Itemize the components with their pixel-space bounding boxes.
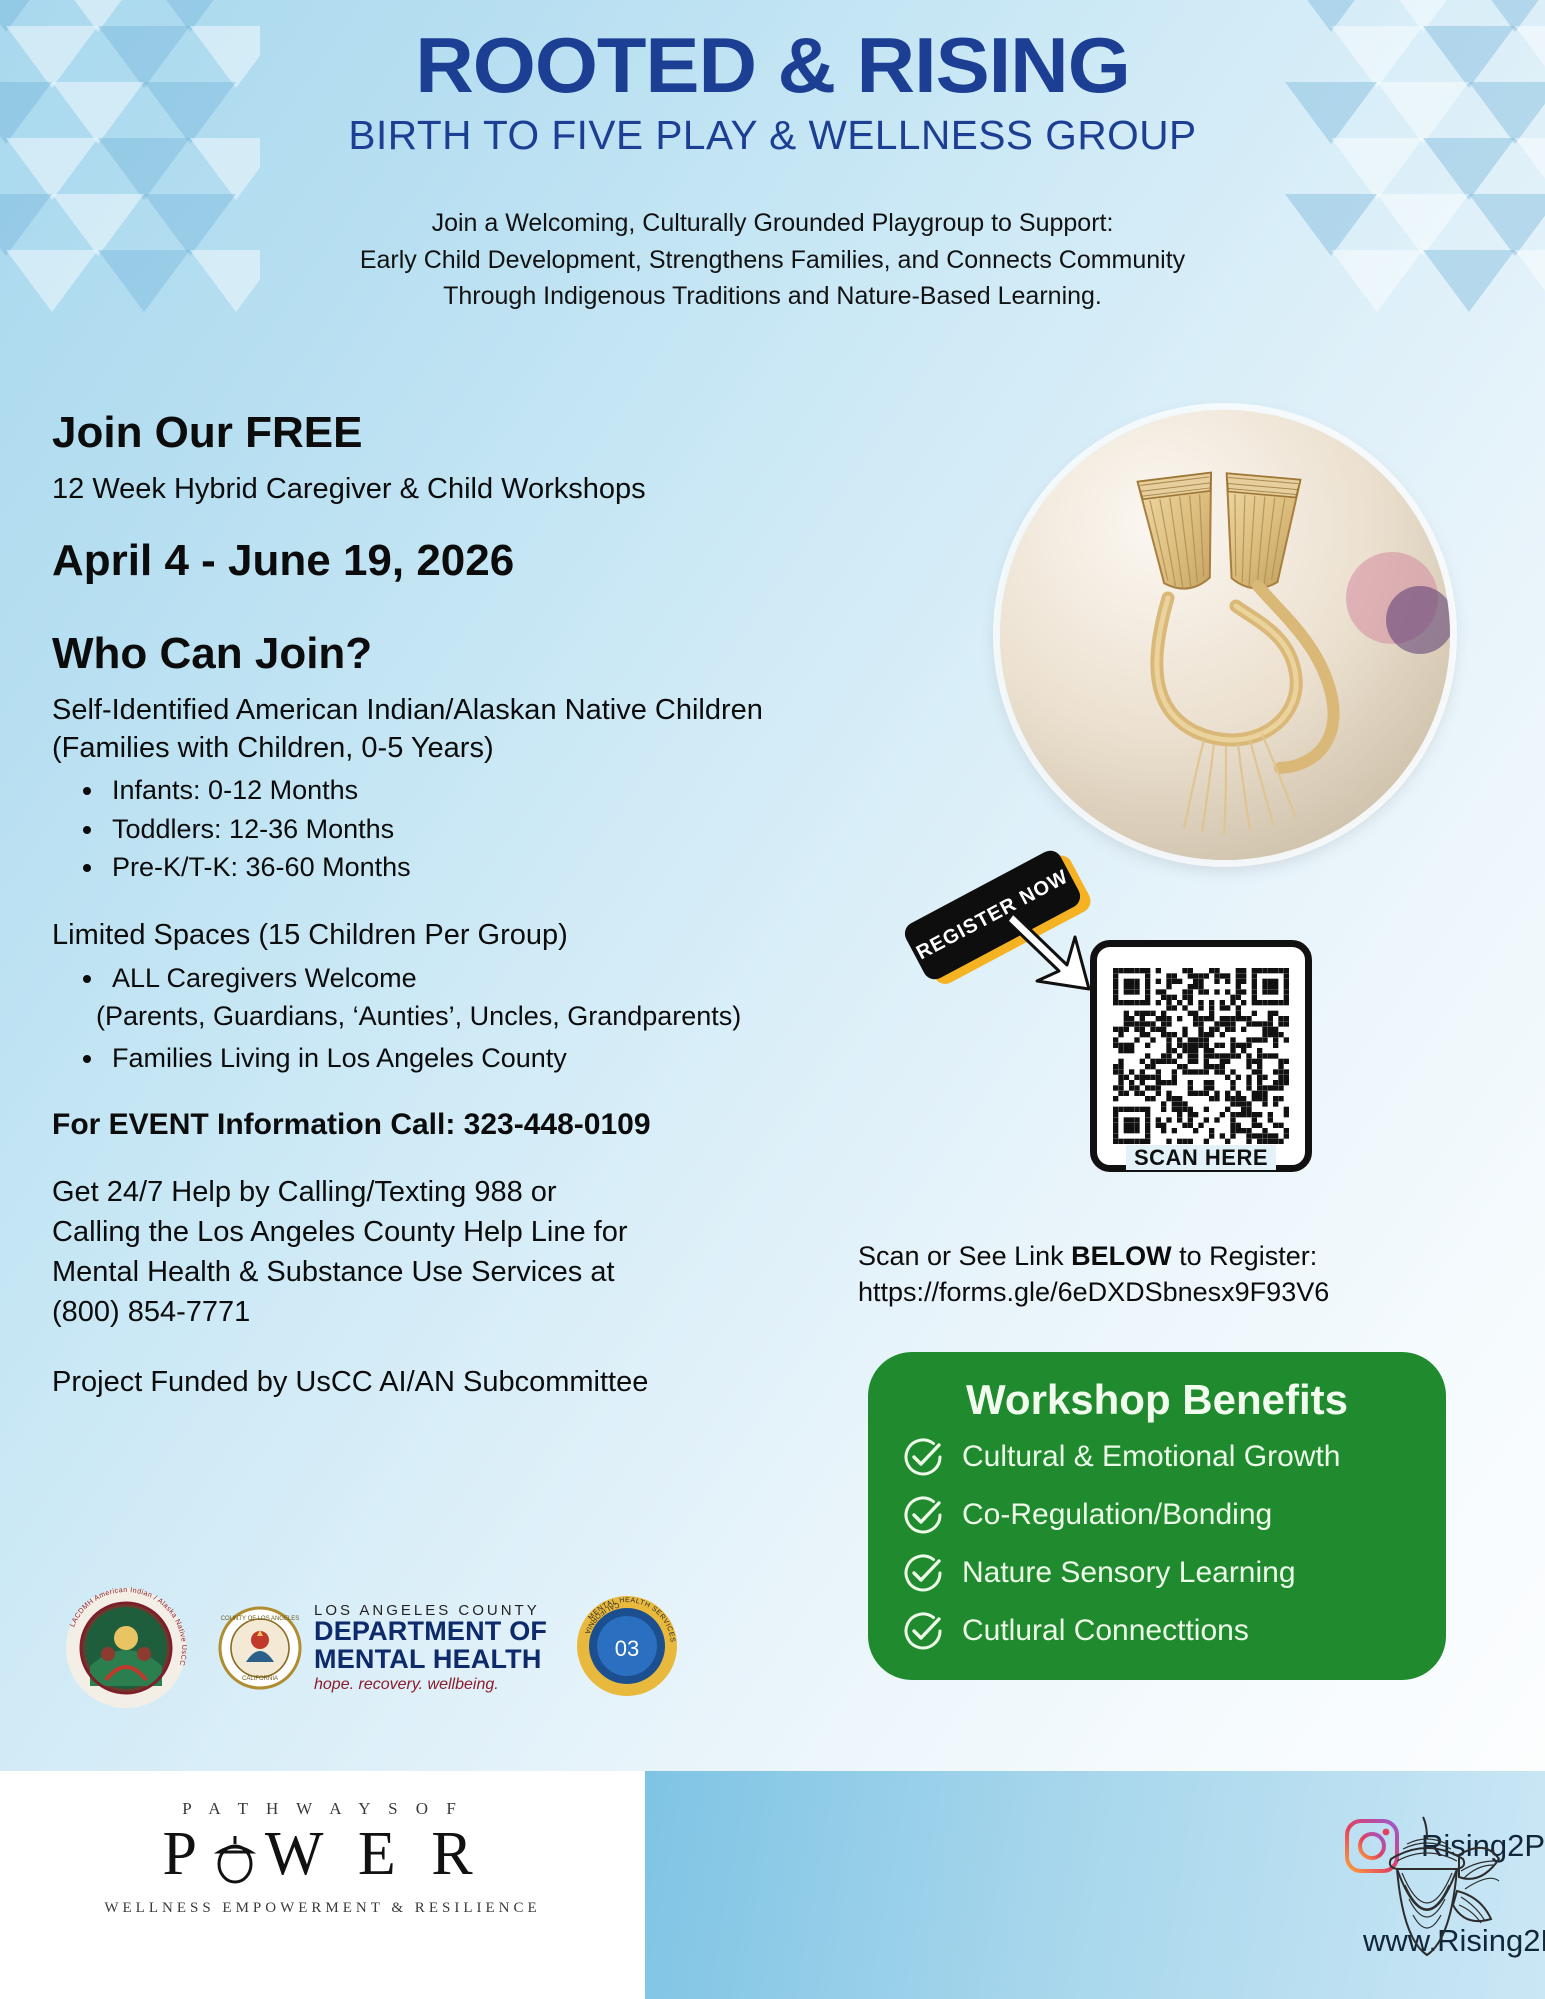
acorn-o-icon [207, 1830, 263, 1886]
list-item: Pre-K/T-K: 36-60 Months [106, 848, 782, 886]
helpline-line-3: Mental Health & Substance Use Services a… [52, 1252, 782, 1292]
dmh-wordmark: LOS ANGELES COUNTY DEPARTMENT OF MENTAL … [314, 1603, 547, 1693]
scan-here-label: SCAN HERE [1090, 1145, 1312, 1171]
intro-paragraph: Join a Welcoming, Culturally Grounded Pl… [0, 205, 1545, 315]
svg-text:CALIFORNIA: CALIFORNIA [242, 1676, 278, 1682]
acorn-illustration [1347, 1793, 1507, 1973]
scan-instruction: Scan or See Link BELOW to Register: [858, 1238, 1478, 1274]
page-title: ROOTED & RISING [0, 26, 1545, 106]
dmh-line-3: MENTAL HEALTH [314, 1646, 547, 1674]
footer: P A T H W A Y S O F P W E R WELLNESS EMP… [0, 1771, 1545, 1999]
register-link-block: Scan or See Link BELOW to Register: http… [858, 1238, 1478, 1310]
list-item: Toddlers: 12-36 Months [106, 810, 782, 848]
rattles-photo [1000, 410, 1450, 860]
caregiver-parenthetical: (Parents, Guardians, ‘Aunties’, Uncles, … [52, 997, 782, 1035]
benefit-row: Cultural & Emotional Growth [868, 1428, 1446, 1486]
benefit-label: Nature Sensory Learning [962, 1556, 1296, 1590]
mhsa-initials: 03 [615, 1636, 639, 1661]
la-county-dmh-logo: CALIFORNIA COUNTY OF LOS ANGELES LOS ANG… [218, 1603, 547, 1693]
qr-code[interactable] [1090, 940, 1312, 1172]
eligibility-line-1: Self-Identified American Indian/Alaskan … [52, 691, 782, 729]
lacdmh-aian-uscc-logo: LACDMH American Indian / Alaska Native U… [60, 1582, 192, 1714]
check-circle-icon [902, 1494, 944, 1536]
county-seal-icon: CALIFORNIA COUNTY OF LOS ANGELES [218, 1606, 302, 1690]
footer-right-panel: Rising2POWER www.Rising2Power.com [645, 1771, 1545, 1999]
check-circle-icon [902, 1552, 944, 1594]
caregiver-list: ALL Caregivers Welcome [52, 959, 782, 997]
benefit-label: Co-Regulation/Bonding [962, 1498, 1272, 1532]
photo-illustration [1000, 410, 1450, 860]
offer-heading: Join Our FREE [52, 410, 782, 456]
pathways-of-power-logo: P A T H W A Y S O F P W E R WELLNESS EMP… [0, 1799, 645, 1917]
mhsa-logo: 03 MENTAL HEALTH SERVICES CALIFORNIA [573, 1592, 681, 1705]
intro-line-3: Through Indigenous Traditions and Nature… [0, 278, 1545, 315]
event-dates: April 4 - June 19, 2026 [52, 538, 782, 584]
limited-spaces-text: Limited Spaces (15 Children Per Group) [52, 916, 782, 954]
check-circle-icon [902, 1610, 944, 1652]
register-now-badge: REGISTER NOW [895, 862, 1095, 1022]
scan-suffix: to Register: [1172, 1241, 1318, 1271]
intro-line-2: Early Child Development, Strengthens Fam… [0, 242, 1545, 279]
footer-left-panel: P A T H W A Y S O F P W E R WELLNESS EMP… [0, 1771, 645, 1999]
county-list: Families Living in Los Angeles County [52, 1039, 782, 1077]
workshop-benefits-box: Workshop Benefits Cultural & Emotional G… [868, 1352, 1446, 1680]
flyer-page: ROOTED & RISING BIRTH TO FIVE PLAY & WEL… [0, 0, 1545, 1999]
benefit-row: Nature Sensory Learning [868, 1544, 1446, 1602]
helpline-line-2: Calling the Los Angeles County Help Line… [52, 1212, 782, 1252]
age-group-list: Infants: 0-12 Months Toddlers: 12-36 Mon… [52, 771, 782, 886]
helpline-phone: (800) 854-7771 [52, 1292, 782, 1332]
dmh-line-2: DEPARTMENT OF [314, 1618, 547, 1646]
arrow-icon [1005, 907, 1095, 1007]
benefits-title: Workshop Benefits [868, 1376, 1446, 1424]
left-content-column: Join Our FREE 12 Week Hybrid Caregiver &… [52, 410, 782, 1402]
benefit-label: Cultural & Emotional Growth [962, 1440, 1341, 1474]
scan-here-text: SCAN HERE [1126, 1145, 1276, 1170]
list-item: Families Living in Los Angeles County [106, 1039, 782, 1077]
offer-subheading: 12 Week Hybrid Caregiver & Child Worksho… [52, 470, 782, 508]
eligibility-line-2: (Families with Children, 0-5 Years) [52, 729, 782, 767]
scan-emphasis: BELOW [1071, 1241, 1172, 1271]
check-circle-icon [902, 1436, 944, 1478]
list-item: Infants: 0-12 Months [106, 771, 782, 809]
pathways-tagline: WELLNESS EMPOWERMENT & RESILIENCE [0, 1900, 645, 1917]
svg-text:COUNTY OF LOS ANGELES: COUNTY OF LOS ANGELES [221, 1616, 300, 1622]
funding-statement: Project Funded by UsCC AI/AN Subcommitte… [52, 1362, 782, 1402]
pathways-wordmark: P W E R [0, 1819, 645, 1890]
event-info-phone: For EVENT Information Call: 323-448-0109 [52, 1108, 782, 1142]
intro-line-1: Join a Welcoming, Culturally Grounded Pl… [0, 205, 1545, 242]
list-item: ALL Caregivers Welcome [106, 959, 782, 997]
dmh-tagline: hope. recovery. wellbeing. [314, 1677, 547, 1693]
page-subtitle: BIRTH TO FIVE PLAY & WELLNESS GROUP [8, 112, 1538, 159]
benefit-row: Co-Regulation/Bonding [868, 1486, 1446, 1544]
partner-logos: LACDMH American Indian / Alaska Native U… [60, 1578, 740, 1718]
scan-prefix: Scan or See Link [858, 1241, 1071, 1271]
benefit-label: Cutlural Connecttions [962, 1614, 1249, 1648]
header: ROOTED & RISING BIRTH TO FIVE PLAY & WEL… [0, 26, 1545, 159]
eligibility-heading: Who Can Join? [52, 631, 782, 677]
benefit-row: Cutlural Connecttions [868, 1602, 1446, 1660]
helpline-line-1: Get 24/7 Help by Calling/Texting 988 or [52, 1172, 782, 1212]
pathways-kicker: P A T H W A Y S O F [0, 1799, 645, 1819]
registration-url[interactable]: https://forms.gle/6eDXDSbnesx9F93V6 [858, 1274, 1478, 1310]
